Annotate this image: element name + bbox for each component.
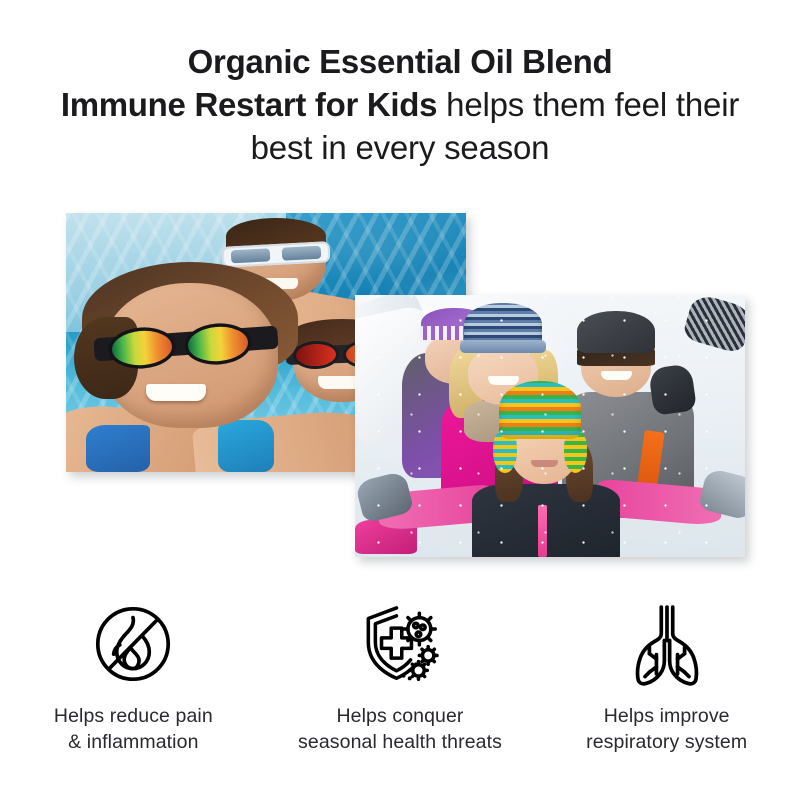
falling-snow bbox=[355, 295, 745, 557]
girl-swimsuit-left bbox=[86, 425, 150, 472]
girl-smile bbox=[146, 384, 206, 401]
benefit-label: Helps reduce pain & inflammation bbox=[54, 704, 213, 755]
product-benefits-infographic: Organic Essential Oil Blend Immune Resta… bbox=[0, 0, 800, 800]
benefit-item-respiratory: Helps improve respiratory system bbox=[533, 598, 800, 755]
girl-swimsuit-right bbox=[218, 420, 274, 472]
benefit-label: Helps conquer seasonal health threats bbox=[298, 704, 502, 755]
benefits-row: Helps reduce pain & inflammation bbox=[0, 598, 800, 755]
no-flame-icon bbox=[85, 598, 181, 690]
benefit-label: Helps improve respiratory system bbox=[586, 704, 747, 755]
page-title: Organic Essential Oil Blend Immune Resta… bbox=[0, 40, 800, 169]
lungs-icon bbox=[619, 598, 715, 690]
benefit-item-seasonal-health: Helps conquer seasonal health threats bbox=[267, 598, 534, 755]
shield-virus-icon bbox=[352, 598, 448, 690]
benefit-item-pain-inflammation: Helps reduce pain & inflammation bbox=[0, 598, 267, 755]
kids-winter-snow-photo bbox=[355, 295, 745, 557]
headline-bold-line1: Organic Essential Oil Blend bbox=[188, 43, 613, 80]
headline-bold-line2: Immune Restart for Kids bbox=[61, 86, 437, 123]
